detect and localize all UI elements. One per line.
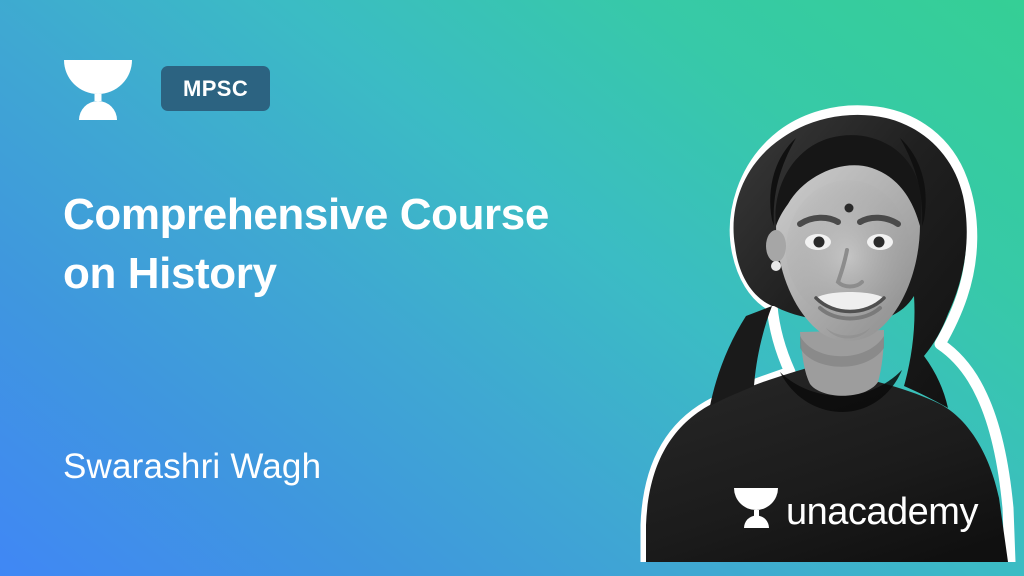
logo-bowl-shape [64,60,132,94]
bindi-icon [845,204,854,213]
pupil-right [874,237,885,248]
logo-base-shape [79,101,117,120]
educator-name: Swarashri Wagh [63,447,321,487]
unacademy-bowl-logo-icon [64,60,132,122]
shirt-logo-stem [754,510,759,516]
educator-portrait: unacademy [604,100,1024,562]
shirt-brand-text: unacademy [786,491,978,533]
goal-badge-mpsc[interactable]: MPSC [161,66,270,111]
logo-stem-shape [95,94,102,101]
course-thumbnail-card: MPSC Comprehensive Course on History Swa… [0,0,1024,576]
ear-left [766,230,786,262]
pupil-left [814,237,825,248]
educator-portrait-image: unacademy [604,100,1024,562]
course-title: Comprehensive Course on History [63,186,633,303]
earring-icon [771,261,781,271]
